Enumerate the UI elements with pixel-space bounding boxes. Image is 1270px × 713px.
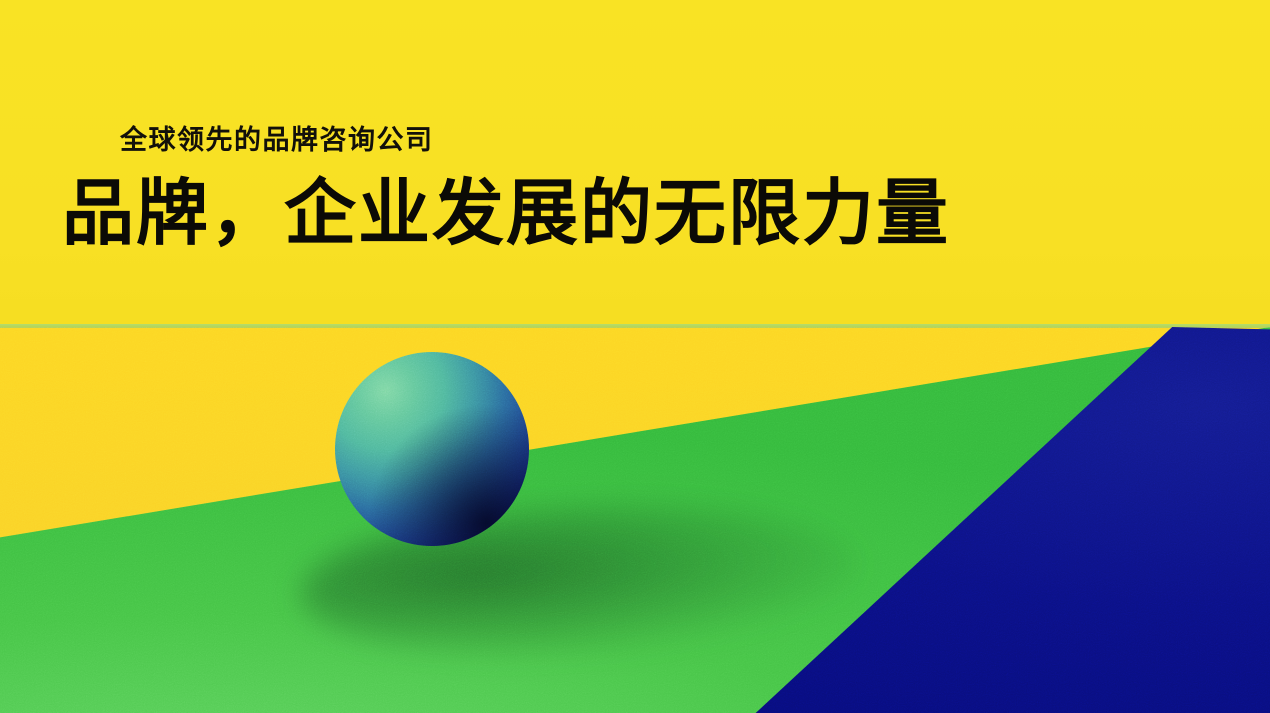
slide-headline: 品牌，企业发展的无限力量 [62,178,950,250]
sky-yellow-band [0,0,1270,326]
horizon-seam-line [0,324,1270,328]
sphere-terminator-shading [335,352,529,546]
gradient-sphere [335,352,529,546]
presentation-slide: 全球领先的品牌咨询公司 品牌，企业发展的无限力量 [0,0,1270,713]
slide-subtitle: 全球领先的品牌咨询公司 [120,118,434,157]
